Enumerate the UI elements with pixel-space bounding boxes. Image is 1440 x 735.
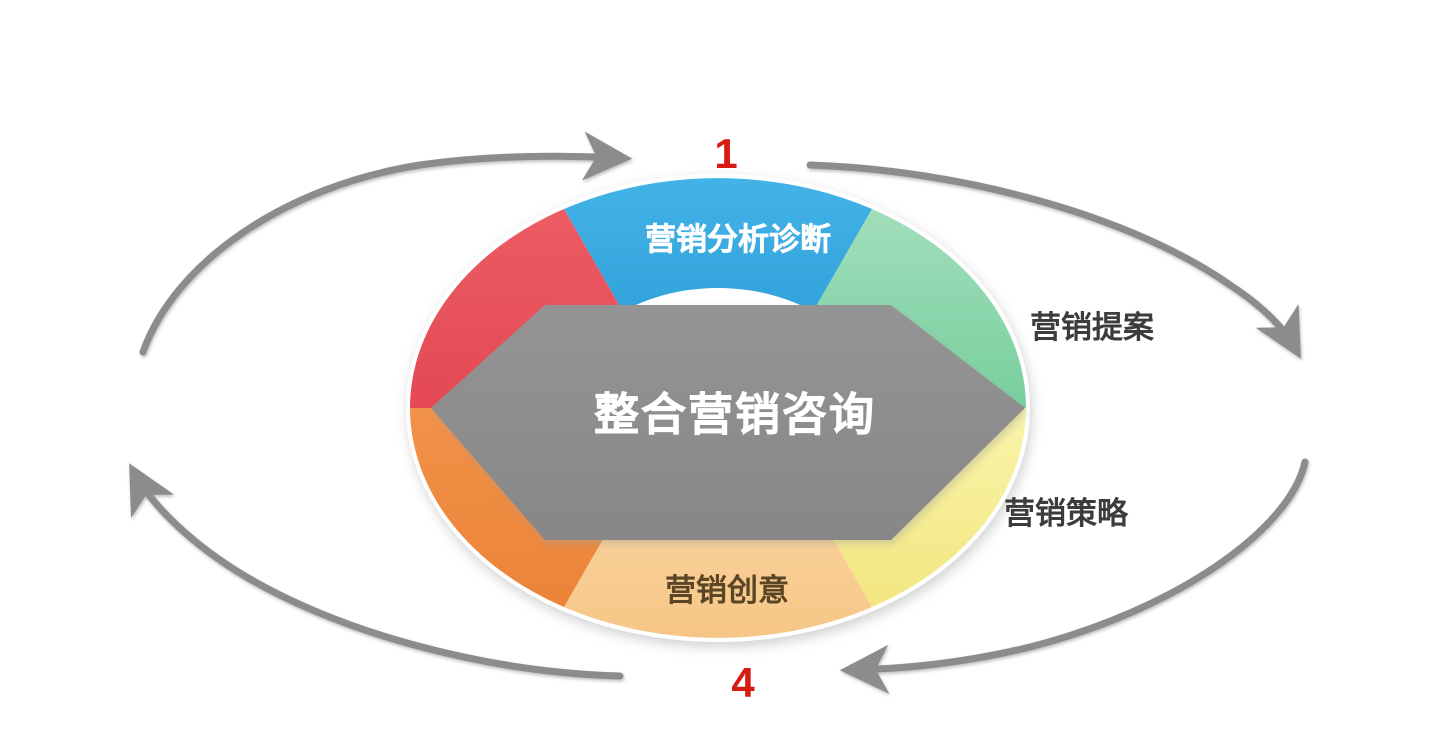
segment-label-creative: 营销创意 — [665, 573, 789, 608]
diagram-canvas: 整合营销咨询 营销分析诊断 营销提案 营销策略 营销创意 营销文案 营销执行 1… — [0, 0, 1440, 735]
segment-label-copywriting: 营销文案 — [302, 499, 427, 534]
center-label: 整合营销咨询 — [594, 389, 876, 440]
segment-label-strategy: 营销策略 — [1004, 496, 1129, 531]
step-marker-4: 4 — [731, 659, 755, 706]
segment-label-proposal: 营销提案 — [1030, 310, 1155, 345]
segment-label-analysis: 营销分析诊断 — [645, 222, 831, 257]
step-marker-1: 1 — [714, 130, 737, 177]
integrated-marketing-cycle-diagram: 整合营销咨询 营销分析诊断 营销提案 营销策略 营销创意 营销文案 营销执行 1… — [0, 0, 1440, 735]
segment-label-execution: 营销执行 — [266, 308, 390, 343]
